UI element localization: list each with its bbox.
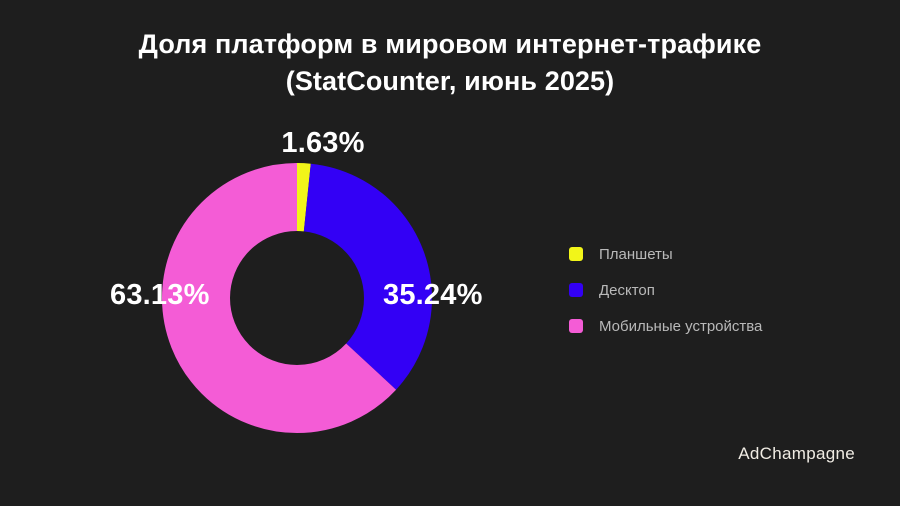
legend-item-tablet[interactable]: Планшеты bbox=[569, 236, 762, 272]
chart-title-line-2: (StatCounter, июнь 2025) bbox=[0, 63, 900, 100]
chart-title-line-1: Доля платформ в мировом интернет-трафике bbox=[0, 26, 900, 63]
data-label-tablet: 1.63% bbox=[248, 127, 398, 160]
data-label-desktop: 35.24% bbox=[383, 279, 523, 312]
legend-item-mobile[interactable]: Мобильные устройства bbox=[569, 308, 762, 344]
legend-swatch-tablet bbox=[569, 247, 583, 261]
legend-label-desktop: Десктоп bbox=[599, 283, 655, 298]
chart-legend: Планшеты Десктоп Мобильные устройства bbox=[569, 236, 762, 344]
legend-swatch-desktop bbox=[569, 283, 583, 297]
legend-item-desktop[interactable]: Десктоп bbox=[569, 272, 762, 308]
legend-label-tablet: Планшеты bbox=[599, 247, 673, 262]
chart-canvas: Доля платформ в мировом интернет-трафике… bbox=[0, 0, 900, 506]
data-label-mobile: 63.13% bbox=[110, 279, 240, 312]
brand-logo: AdChampagne bbox=[738, 444, 855, 464]
chart-title: Доля платформ в мировом интернет-трафике… bbox=[0, 26, 900, 100]
legend-swatch-mobile bbox=[569, 319, 583, 333]
legend-label-mobile: Мобильные устройства bbox=[599, 319, 762, 334]
